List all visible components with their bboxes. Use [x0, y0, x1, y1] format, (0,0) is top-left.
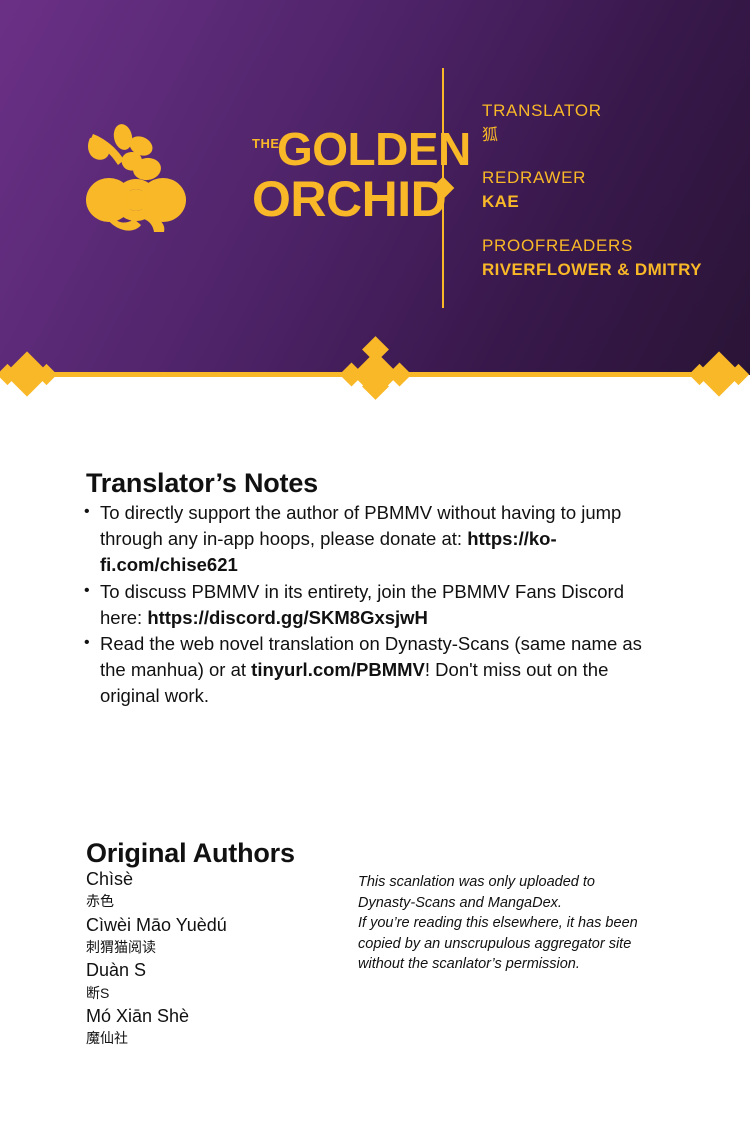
list-item: Cìwèi Māo Yuèdú 刺猬猫阅读 — [86, 914, 336, 958]
author-pinyin-name: Mó Xiān Shè — [86, 1005, 336, 1028]
author-cjk-name: 断S — [86, 983, 336, 1003]
credit-group-translator: TRANSLATOR 狐 — [482, 98, 732, 147]
disclaimer-line: copied by an unscrupulous aggregator sit… — [358, 934, 668, 955]
author-cjk-name: 赤色 — [86, 891, 336, 911]
translator-notes-title: Translator’s Notes — [86, 468, 318, 499]
credit-name-value: KAE — [482, 190, 732, 215]
decorative-divider — [0, 352, 750, 410]
credits-banner: THE GOLDEN ORCHID TRANSLATOR 狐 REDRAWER … — [0, 0, 750, 375]
golden-orchid-logo: THE GOLDEN ORCHID — [84, 122, 414, 234]
author-cjk-name: 魔仙社 — [86, 1028, 336, 1048]
author-cjk-name: 刺猬猫阅读 — [86, 937, 336, 957]
credit-group-proofreaders: PROOFREADERS RIVERFLOWER & DMITRY — [482, 233, 732, 283]
credit-name-value: 狐 — [482, 124, 732, 147]
disclaimer-line: Dynasty-Scans and MangaDex. — [358, 893, 668, 914]
logo-orchid-text: ORCHID — [252, 170, 446, 228]
list-item: To directly support the author of PBMMV … — [84, 500, 654, 578]
credit-role-label: REDRAWER — [482, 165, 732, 191]
translator-notes-list: To directly support the author of PBMMV … — [84, 500, 654, 710]
list-item: To discuss PBMMV in its entirety, join t… — [84, 579, 654, 631]
disclaimer-line: without the scanlator’s permission. — [358, 954, 668, 975]
credit-group-redrawer: REDRAWER KAE — [482, 165, 732, 215]
author-pinyin-name: Cìwèi Māo Yuèdú — [86, 914, 336, 937]
logo-the-text: THE — [252, 136, 280, 151]
credit-role-label: TRANSLATOR — [482, 98, 732, 124]
list-item: Chìsè 赤色 — [86, 868, 336, 912]
disclaimer-line: If you’re reading this elsewhere, it has… — [358, 913, 668, 934]
author-pinyin-name: Duàn S — [86, 959, 336, 982]
scanlation-disclaimer: This scanlation was only uploaded to Dyn… — [358, 872, 668, 975]
list-item: Mó Xiān Shè 魔仙社 — [86, 1005, 336, 1049]
disclaimer-line: This scanlation was only uploaded to — [358, 872, 668, 893]
list-item: Read the web novel translation on Dynast… — [84, 631, 654, 709]
orchid-flower-logo-mark — [84, 124, 188, 234]
credit-name-value: RIVERFLOWER & DMITRY — [482, 258, 732, 283]
list-item: Duàn S 断S — [86, 959, 336, 1003]
author-pinyin-name: Chìsè — [86, 868, 336, 891]
credit-role-label: PROOFREADERS — [482, 233, 732, 259]
credits-list: TRANSLATOR 狐 REDRAWER KAE PROOFREADERS R… — [482, 98, 732, 301]
original-authors-list: Chìsè 赤色 Cìwèi Māo Yuèdú 刺猬猫阅读 Duàn S 断S… — [86, 868, 336, 1051]
original-authors-title: Original Authors — [86, 838, 295, 869]
